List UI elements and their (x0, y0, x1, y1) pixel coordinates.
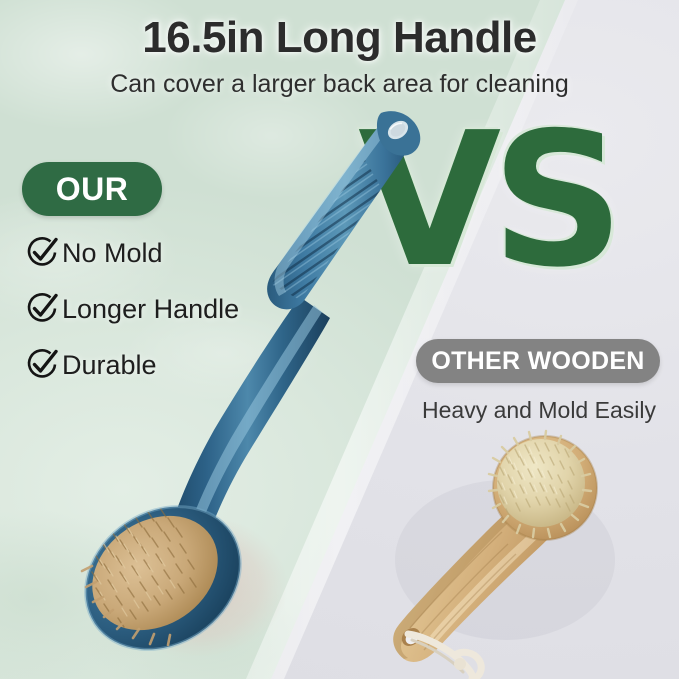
other-wooden-badge: OTHER WOODEN (416, 339, 660, 383)
feature-item: No Mold (25, 225, 239, 281)
check-circle-icon (25, 236, 59, 270)
vs-label: VS (358, 108, 614, 293)
page-subtitle: Can cover a larger back area for cleanin… (0, 70, 679, 99)
feature-label: Longer Handle (62, 294, 239, 325)
feature-item: Durable (25, 337, 239, 393)
our-badge: OUR (22, 162, 162, 216)
feature-label: Durable (62, 350, 157, 381)
feature-item: Longer Handle (25, 281, 239, 337)
page-title: 16.5in Long Handle (0, 13, 679, 63)
feature-label: No Mold (62, 238, 163, 269)
check-circle-icon (25, 292, 59, 326)
other-wooden-subtitle: Heavy and Mold Easily (406, 397, 672, 424)
our-badge-label: OUR (56, 171, 129, 208)
other-wooden-badge-label: OTHER WOODEN (431, 347, 644, 376)
infographic-canvas: VS (0, 0, 679, 679)
check-circle-icon (25, 348, 59, 382)
our-feature-list: No Mold Longer Handle Durable (25, 225, 239, 393)
